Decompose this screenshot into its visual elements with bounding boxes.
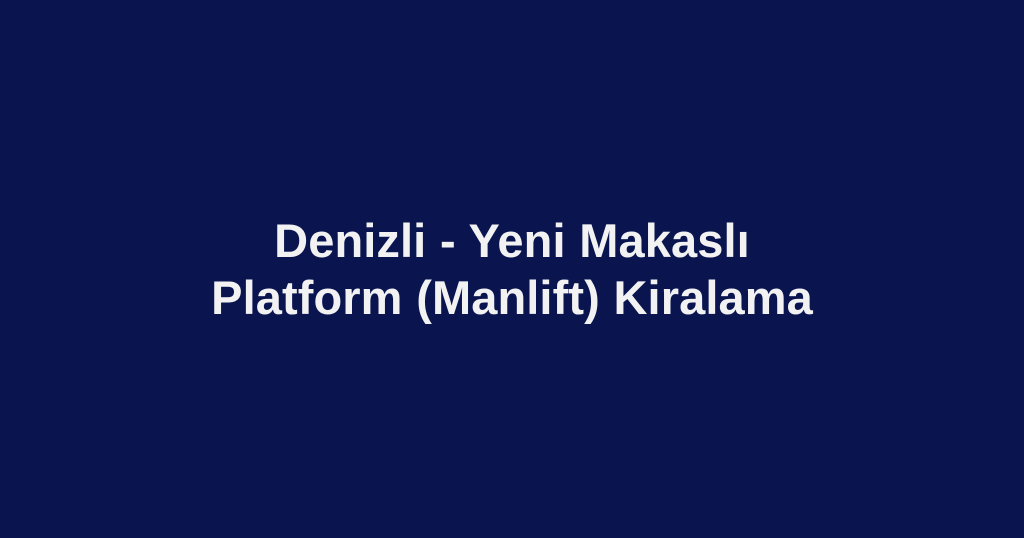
card-content: Denizli - Yeni Makaslı Platform (Manlift… — [0, 212, 1024, 326]
page-title: Denizli - Yeni Makaslı Platform (Manlift… — [172, 212, 852, 326]
share-card: Denizli - Yeni Makaslı Platform (Manlift… — [0, 0, 1024, 538]
